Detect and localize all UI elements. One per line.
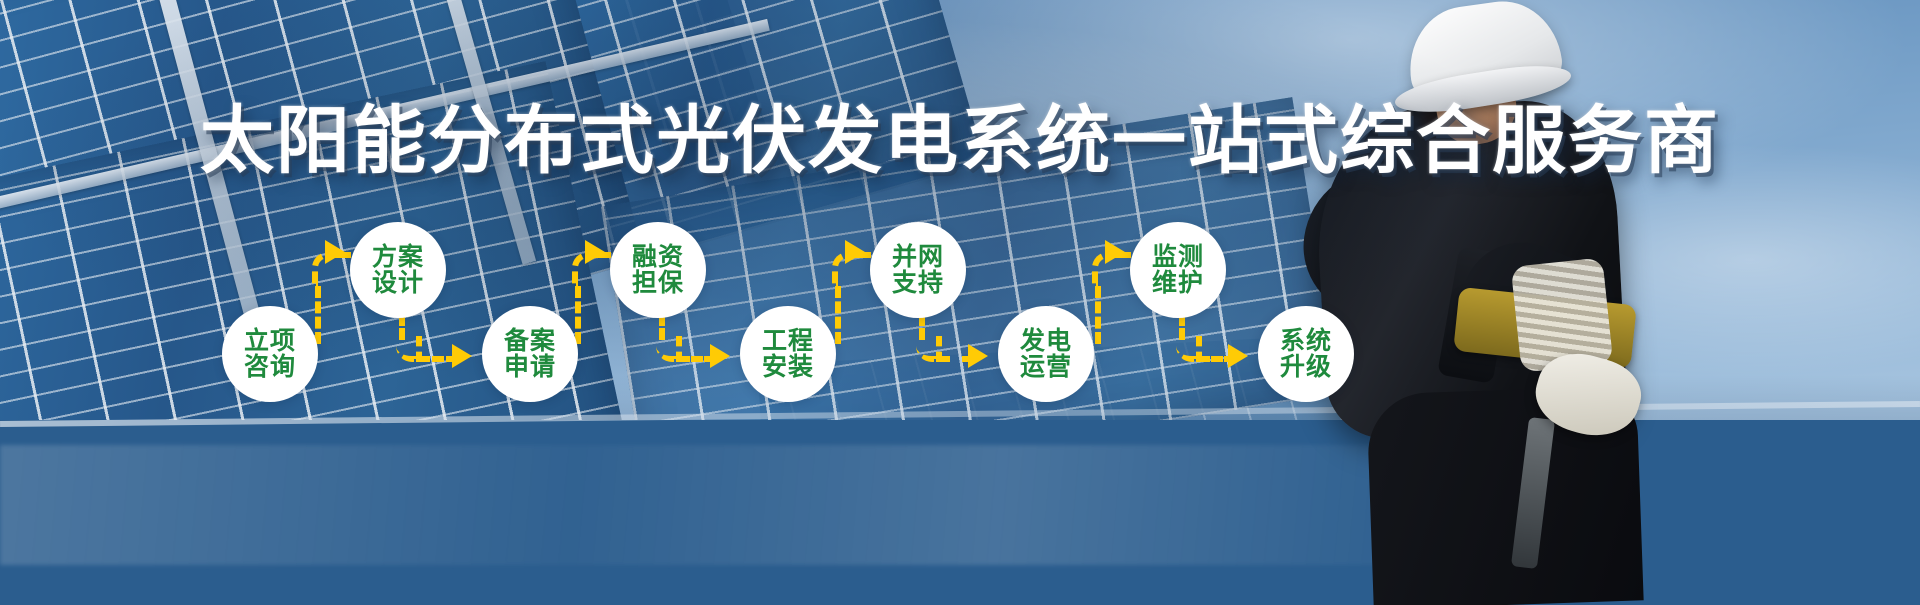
connector-arrow-icon	[1228, 344, 1248, 368]
connector-arrow-icon	[845, 240, 865, 264]
flow-step-8-label: 监测 维护	[1152, 244, 1204, 297]
connector-arrow-icon	[452, 344, 472, 368]
connector-segment	[1095, 286, 1101, 344]
flow-step-3[interactable]: 备案 申请	[482, 306, 578, 402]
flow-step-9[interactable]: 系统 升级	[1258, 306, 1354, 402]
flow-step-8[interactable]: 监测 维护	[1130, 222, 1226, 318]
connector-arrow-icon	[710, 344, 730, 368]
flow-step-5[interactable]: 工程 安装	[740, 306, 836, 402]
flow-step-7-label: 发电 运营	[1020, 328, 1072, 381]
connector-segment	[835, 286, 841, 344]
flow-step-6[interactable]: 并网 支持	[870, 222, 966, 318]
flow-step-6-label: 并网 支持	[892, 244, 944, 297]
flow-step-2-label: 方案 设计	[372, 244, 424, 297]
flow-step-5-label: 工程 安装	[762, 328, 814, 381]
flow-step-1-label: 立项 咨询	[244, 328, 296, 381]
connector-segment	[315, 286, 321, 344]
flow-step-9-label: 系统 升级	[1280, 328, 1332, 381]
connector-arrow-icon	[968, 344, 988, 368]
flow-step-2[interactable]: 方案 设计	[350, 222, 446, 318]
flow-step-4-label: 融资 担保	[632, 244, 684, 297]
process-flow-diagram: 立项 咨询 方案 设计 备案 申请 融资 担保 工程 安装 并网 支持 发电 运…	[0, 0, 1920, 605]
connector-arrow-icon	[585, 240, 605, 264]
connector-arrow-icon	[325, 240, 345, 264]
flow-step-3-label: 备案 申请	[504, 328, 556, 381]
flow-step-7[interactable]: 发电 运营	[998, 306, 1094, 402]
flow-step-4[interactable]: 融资 担保	[610, 222, 706, 318]
promo-banner: 太阳能分布式光伏发电系统一站式综合服务商	[0, 0, 1920, 605]
flow-step-1[interactable]: 立项 咨询	[222, 306, 318, 402]
connector-segment	[575, 286, 581, 344]
connector-arrow-icon	[1105, 240, 1125, 264]
